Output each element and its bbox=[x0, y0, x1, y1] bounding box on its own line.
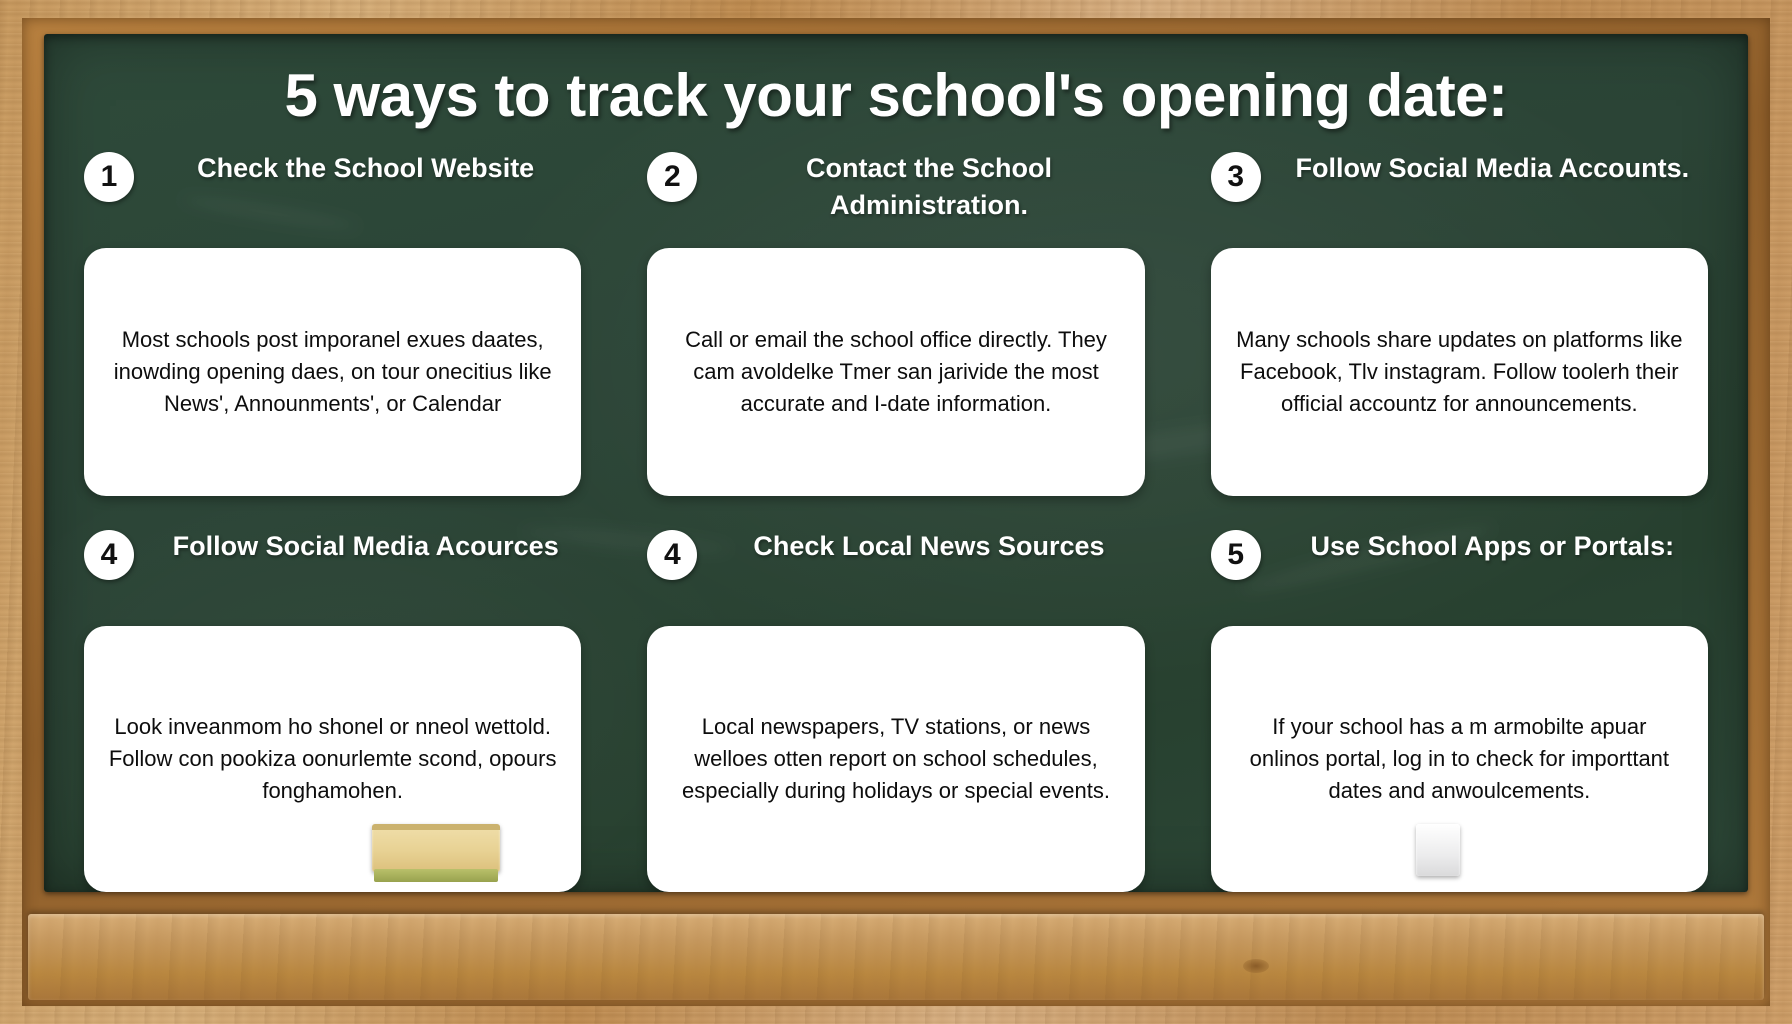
chalk-tray bbox=[28, 914, 1764, 1000]
step-header: 1 Check the School Website bbox=[84, 148, 581, 236]
step-number-badge: 5 bbox=[1211, 530, 1261, 580]
chalkboard-infographic: 5 ways to track your school's opening da… bbox=[0, 0, 1792, 1024]
step-body-card: Call or email the school office directly… bbox=[647, 248, 1144, 496]
step-title: Check the School Website bbox=[150, 148, 581, 187]
step-header: 4 Follow Social Media Acources bbox=[84, 526, 581, 614]
steps-grid: 1 Check the School Website Most schools … bbox=[84, 148, 1708, 892]
step-title: Check Local News Sources bbox=[713, 526, 1144, 565]
step-body-card: Look inveanmom ho shonel or nneol wettol… bbox=[84, 626, 581, 892]
page-title: 5 ways to track your school's opening da… bbox=[84, 66, 1708, 126]
board-content: 5 ways to track your school's opening da… bbox=[44, 34, 1748, 892]
step-number-badge: 1 bbox=[84, 152, 134, 202]
chalkboard-surface: 5 ways to track your school's opening da… bbox=[44, 34, 1748, 892]
step-header: 5 Use School Apps or Portals: bbox=[1211, 526, 1708, 614]
step-body-card: Many schools share updates on platforms … bbox=[1211, 248, 1708, 496]
step-number-badge: 4 bbox=[647, 530, 697, 580]
eraser-body bbox=[372, 824, 500, 872]
step-number-badge: 3 bbox=[1211, 152, 1261, 202]
wood-knot bbox=[1243, 959, 1269, 973]
step-title: Follow Social Media Acources bbox=[150, 526, 581, 565]
chalkboard-eraser-icon bbox=[372, 824, 500, 882]
step-header: 4 Check Local News Sources bbox=[647, 526, 1144, 614]
step-item: 4 Follow Social Media Acources Look inve… bbox=[84, 526, 581, 892]
eraser-top bbox=[372, 824, 500, 830]
step-title: Follow Social Media Accounts. bbox=[1277, 148, 1708, 187]
step-body-card: Most schools post imporanel exues daates… bbox=[84, 248, 581, 496]
eraser-felt bbox=[374, 869, 498, 882]
step-number-badge: 2 bbox=[647, 152, 697, 202]
step-title: Contact the School Administration. bbox=[713, 148, 1144, 225]
step-item: 3 Follow Social Media Accounts. Many sch… bbox=[1211, 148, 1708, 496]
step-number-badge: 4 bbox=[84, 530, 134, 580]
chalk-stick-icon bbox=[1416, 824, 1460, 876]
step-item: 2 Contact the School Administration. Cal… bbox=[647, 148, 1144, 496]
step-item: 1 Check the School Website Most schools … bbox=[84, 148, 581, 496]
step-body-card: Local newspapers, TV stations, or news w… bbox=[647, 626, 1144, 892]
step-title: Use School Apps or Portals: bbox=[1277, 526, 1708, 565]
step-header: 3 Follow Social Media Accounts. bbox=[1211, 148, 1708, 236]
step-header: 2 Contact the School Administration. bbox=[647, 148, 1144, 236]
step-item: 4 Check Local News Sources Local newspap… bbox=[647, 526, 1144, 892]
